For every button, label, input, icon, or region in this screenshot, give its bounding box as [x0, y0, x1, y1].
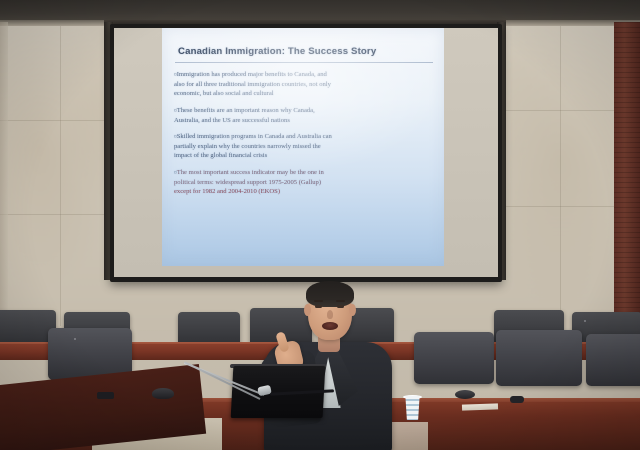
- wall-panel-left: [0, 22, 8, 322]
- bullet-line: also for all three traditional immigrati…: [174, 81, 331, 88]
- chair-stud: [584, 320, 586, 322]
- paper-sheet: [462, 403, 498, 410]
- ceiling-band: [0, 0, 640, 22]
- bullet-line: Immigration has produced major benefits …: [177, 71, 327, 78]
- bullet-line: impact of the global financial crisis: [174, 152, 267, 159]
- eyebrow-right: [336, 300, 345, 302]
- mouth: [322, 322, 338, 330]
- slide-bullet: ¤Skilled immigration programs in Canada …: [174, 132, 432, 161]
- eye-right: [337, 305, 344, 308]
- eye-left: [315, 305, 322, 308]
- bullet-line: except for 1982 and 2004-2010 (EKOS): [174, 188, 280, 195]
- desk-device: [510, 396, 524, 403]
- slide-body: ¤Immigration has produced major benefits…: [174, 70, 432, 203]
- ear-left: [304, 304, 311, 316]
- desk-device: [455, 390, 475, 399]
- wall-seam: [0, 214, 104, 215]
- wall-seam: [60, 26, 61, 326]
- presentation-slide: Canadian Immigration: The Success Story …: [162, 28, 444, 266]
- slide-bullet: ¤The most important success indicator ma…: [174, 168, 432, 197]
- bullet-line: political terms: widespread support 1975…: [174, 179, 321, 186]
- bullet-line: Skilled immigration programs in Canada a…: [177, 133, 332, 140]
- slide-title-rule: [175, 62, 433, 63]
- video-frame: Canadian Immigration: The Success Story …: [0, 0, 640, 450]
- desk-device: [97, 392, 114, 399]
- eyebrow-left: [314, 300, 323, 302]
- bullet-line: These benefits are an important reason w…: [177, 107, 315, 114]
- chair: [414, 332, 494, 384]
- wall-seam: [0, 120, 104, 121]
- nose: [327, 310, 333, 319]
- bullet-line: The most important success indicator may…: [177, 169, 324, 176]
- wall-seam: [506, 206, 614, 207]
- bullet-line: Australia, and the US are successful nat…: [174, 117, 290, 124]
- bullet-line: partially explain why the countries narr…: [174, 143, 321, 150]
- bullet-line: economic, but also social and cultural: [174, 90, 274, 97]
- wall-seam: [560, 26, 561, 326]
- ear-right: [349, 304, 356, 316]
- slide-bullet: ¤These benefits are an important reason …: [174, 106, 432, 125]
- presenter-hair: [306, 281, 354, 307]
- desk-device: [152, 388, 174, 399]
- slide-bullet: ¤Immigration has produced major benefits…: [174, 70, 432, 99]
- chair: [586, 334, 640, 386]
- chair: [496, 330, 582, 386]
- chair-stud: [74, 338, 76, 340]
- projection-screen: Canadian Immigration: The Success Story …: [110, 24, 502, 282]
- slide-title: Canadian Immigration: The Success Story: [178, 46, 430, 57]
- wall-seam: [506, 110, 614, 111]
